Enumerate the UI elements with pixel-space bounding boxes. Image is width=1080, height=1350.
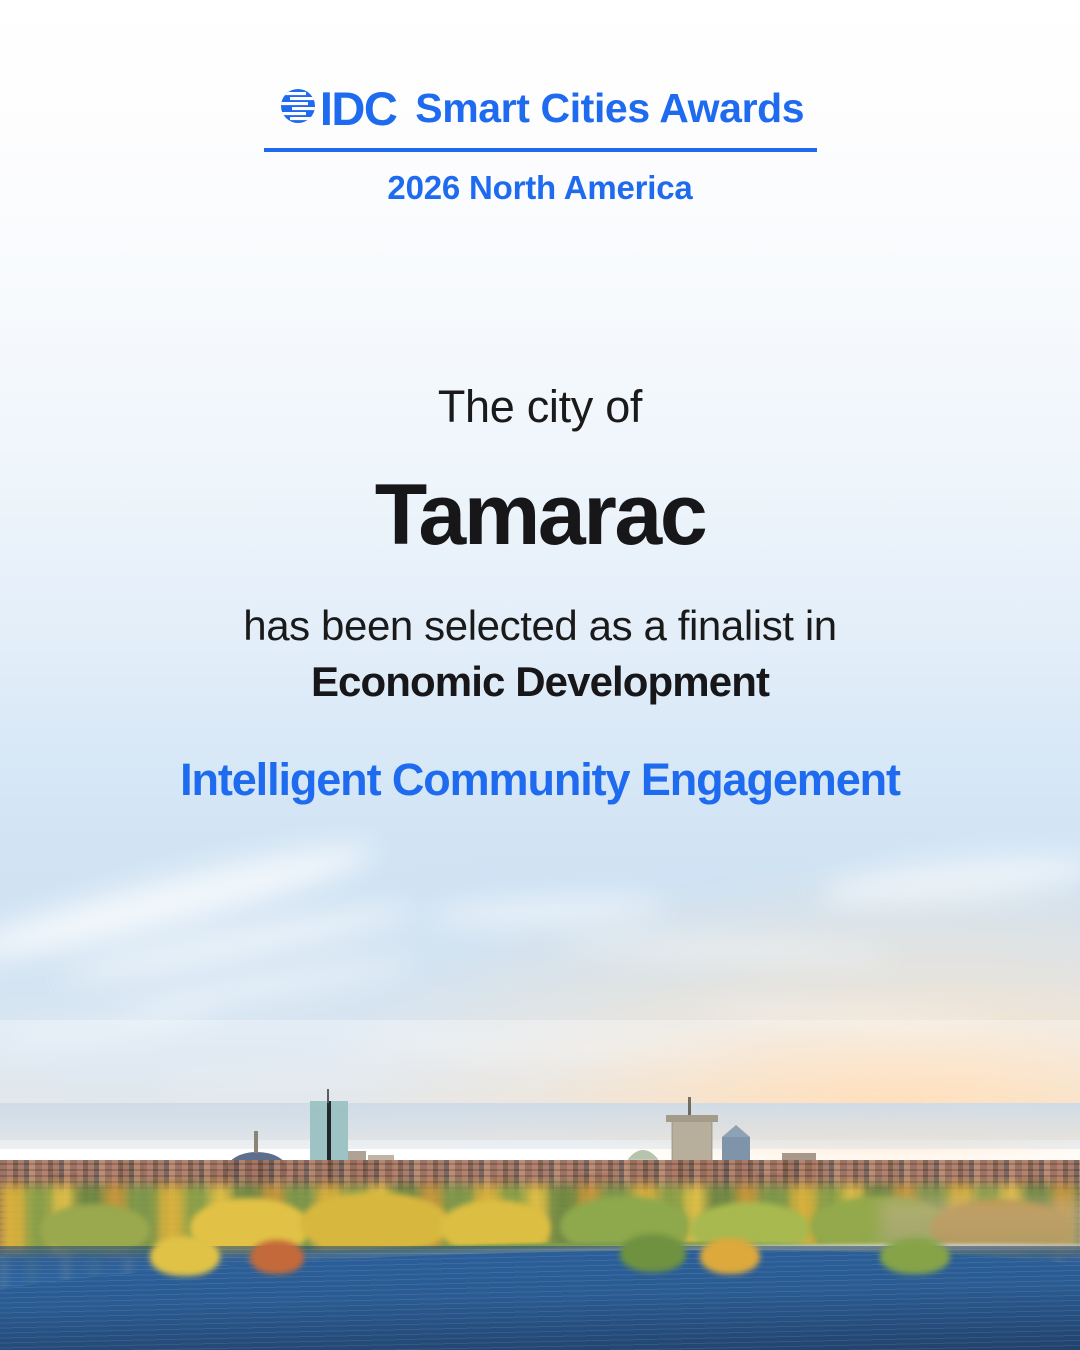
idc-wordmark: IDC (320, 85, 396, 132)
idc-logo: IDC (276, 84, 396, 133)
autumn-tree (250, 1240, 304, 1274)
award-statement: The city of Tamarac has been selected as… (0, 383, 1080, 804)
header-divider (264, 148, 817, 152)
award-intro-text: The city of (0, 383, 1080, 430)
autumn-tree (700, 1238, 760, 1274)
award-poster: IDC Smart Cities Awards 2026 North Ameri… (0, 0, 1080, 1350)
award-category: Economic Development (0, 660, 1080, 704)
autumn-tree (150, 1236, 220, 1276)
award-subcategory: Intelligent Community Engagement (0, 756, 1080, 803)
idc-brand-lockup: IDC Smart Cities Awards (276, 82, 804, 134)
poster-content: IDC Smart Cities Awards 2026 North Ameri… (0, 0, 1080, 1350)
awards-header: IDC Smart Cities Awards 2026 North Ameri… (0, 82, 1080, 207)
program-title: Smart Cities Awards (415, 88, 804, 129)
award-city-name: Tamarac (0, 472, 1080, 558)
award-status-text: has been selected as a finalist in (0, 604, 1080, 648)
autumn-tree (880, 1238, 950, 1274)
idc-globe-icon (276, 84, 320, 133)
autumn-tree (620, 1234, 686, 1272)
header-subtitle: 2026 North America (0, 169, 1080, 207)
